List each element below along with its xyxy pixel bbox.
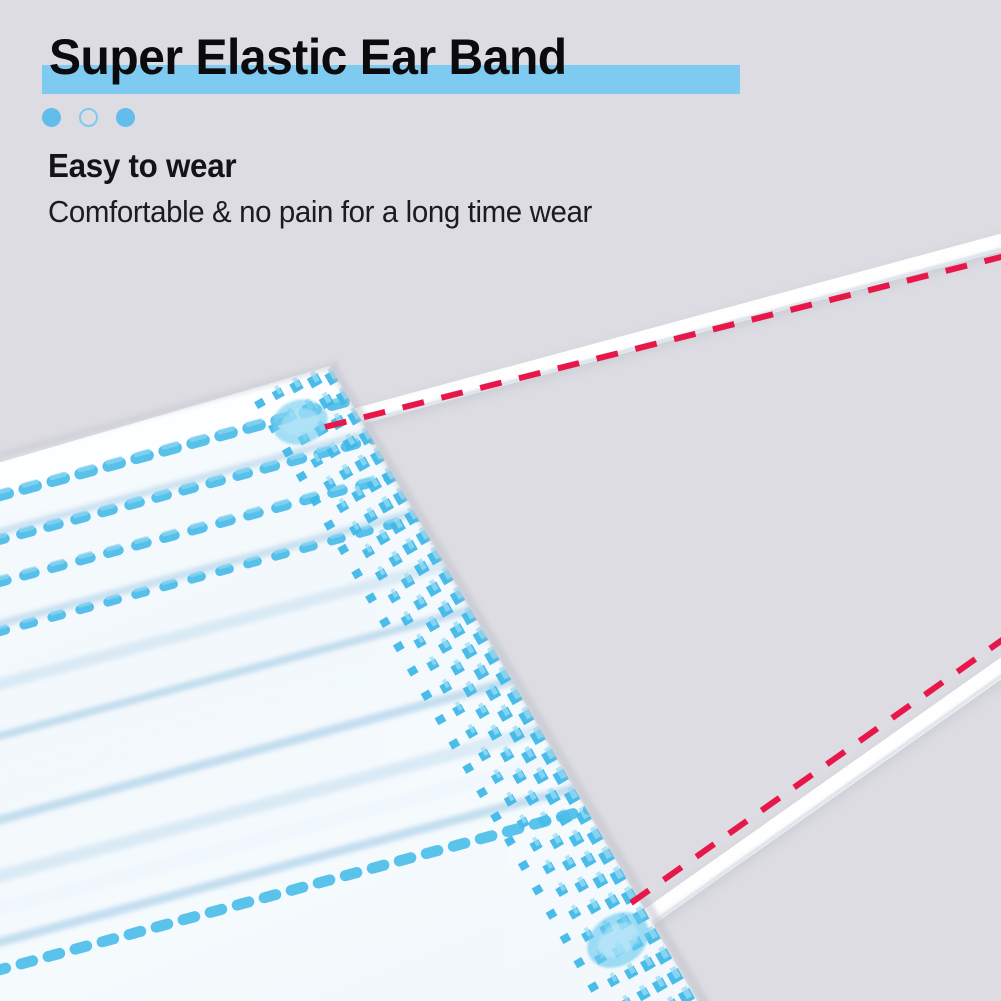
lower-earband-dashed-line <box>631 638 1001 903</box>
product-feature-card: Super Elastic Ear Band Easy to wear Comf… <box>0 0 1001 1001</box>
lower-earband-group <box>636 658 1001 934</box>
mask-body <box>0 362 746 1001</box>
mask-product-photo <box>0 0 1001 1001</box>
